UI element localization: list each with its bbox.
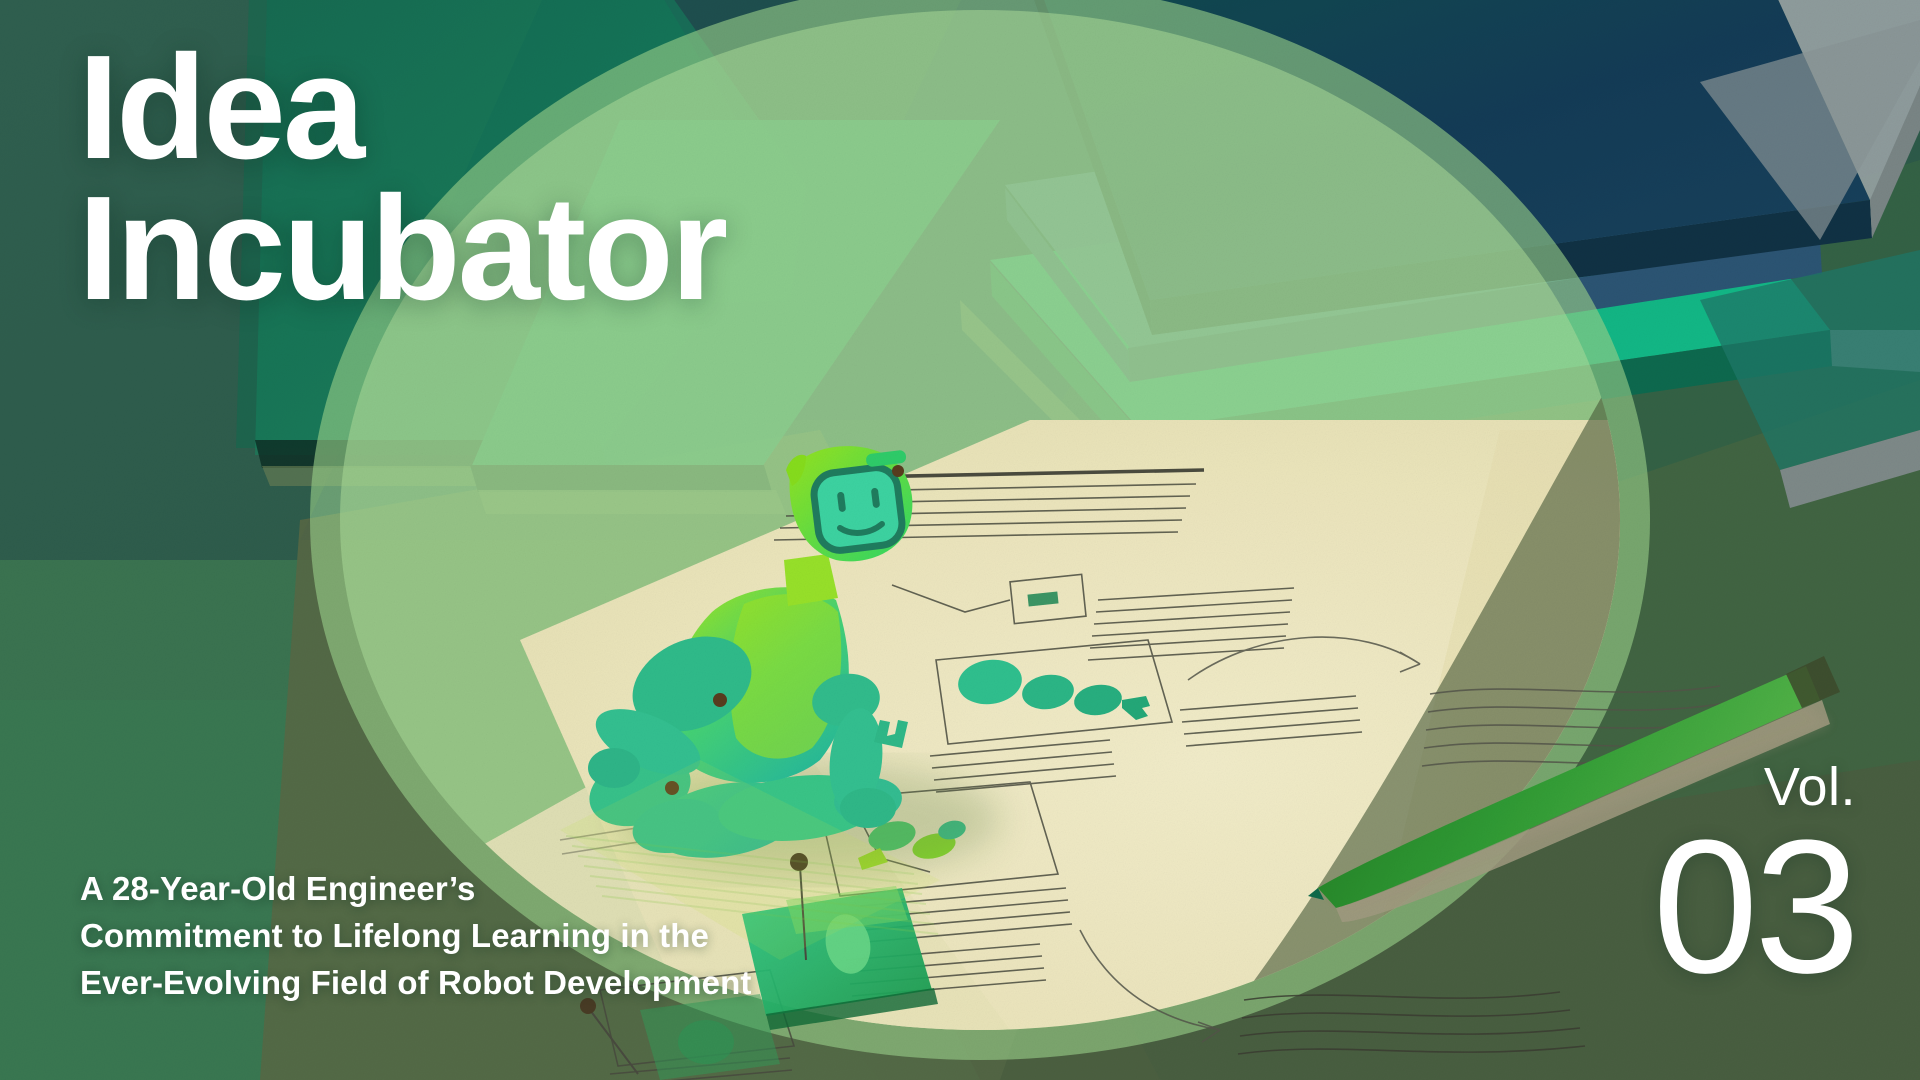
subtitle: A 28-Year-Old Engineer’s Commitment to L… [80,866,751,1007]
subtitle-line-2: Commitment to Lifelong Learning in the [80,913,751,960]
subtitle-line-3: Ever-Evolving Field of Robot Development [80,960,751,1007]
title-line-2: Incubator [78,179,725,320]
volume-number: 03 [1653,818,1856,997]
volume-block: Vol. 03 [1653,760,1856,997]
subtitle-line-1: A 28-Year-Old Engineer’s [80,866,751,913]
title-line-1: Idea [78,38,725,179]
poster-canvas: Idea Incubator A 28-Year-Old Engineer’s … [0,0,1920,1080]
page-title: Idea Incubator [78,38,725,319]
